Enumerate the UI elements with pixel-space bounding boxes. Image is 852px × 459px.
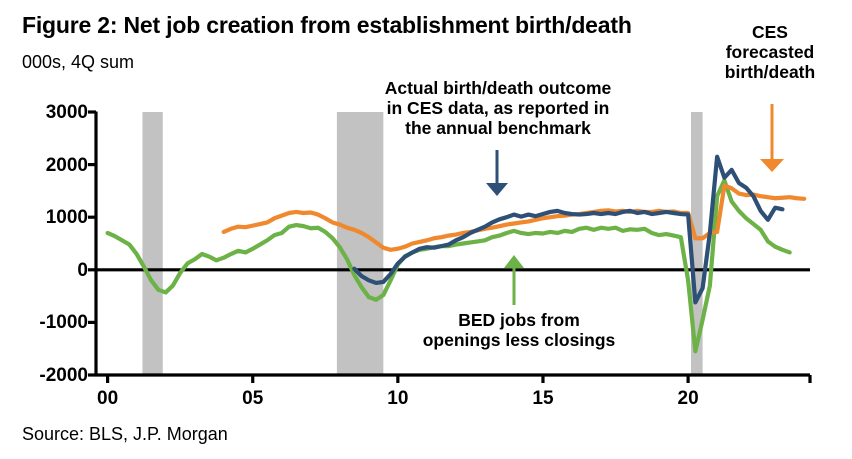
annotation-arrows (0, 0, 852, 459)
arrow-ces-actual (486, 150, 508, 196)
figure-root: Figure 2: Net job creation from establis… (0, 0, 852, 459)
arrow-ces-forecast (760, 104, 784, 172)
arrow-bed (504, 255, 524, 305)
